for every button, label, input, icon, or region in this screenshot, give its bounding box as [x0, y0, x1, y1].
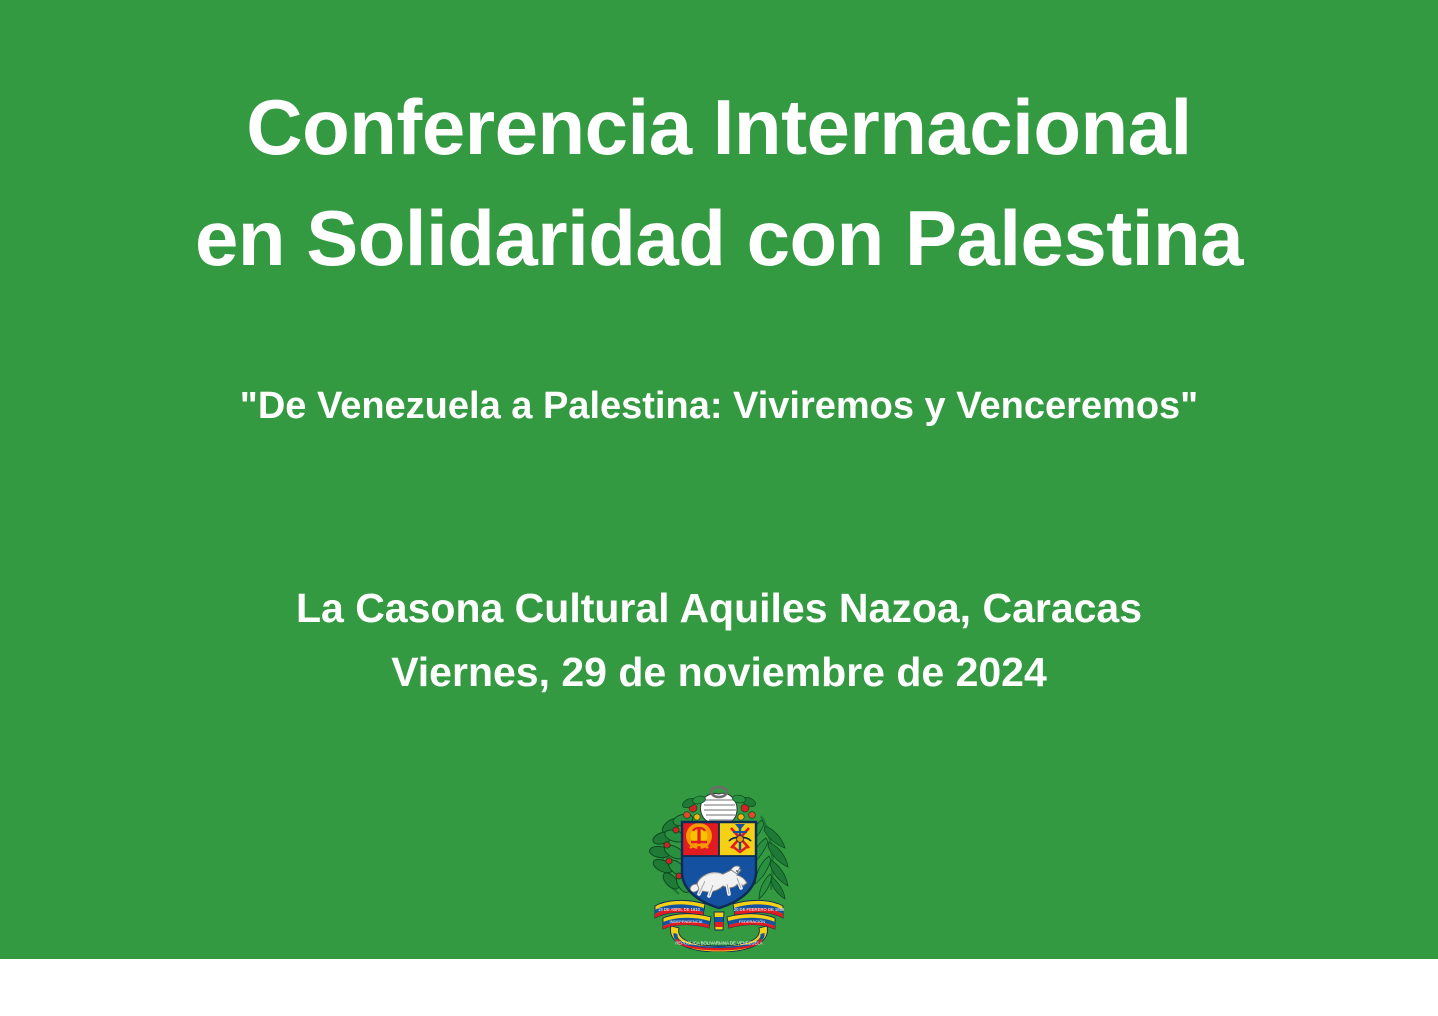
ministry-line-1: Ministerio del Poder Popular — [606, 961, 832, 979]
svg-text:20 DE FEBRERO DE 1859: 20 DE FEBRERO DE 1859 — [734, 907, 785, 912]
svg-text:FEDERACIÓN: FEDERACIÓN — [739, 919, 765, 924]
ribbon-right-lower: FEDERACIÓN — [727, 914, 775, 929]
ministry-line-3: Oficina de Gestión Comunicacional — [606, 999, 832, 1016]
event-details: La Casona Cultural Aquiles Nazoa, Caraca… — [0, 577, 1438, 704]
event-date: Viernes, 29 de noviembre de 2024 — [0, 641, 1438, 705]
headline-line-1: Conferencia Internacional — [20, 72, 1418, 183]
event-flyer: Conferencia Internacional en Solidaridad… — [0, 0, 1438, 959]
page-title: Conferencia Internacional en Solidaridad… — [0, 72, 1438, 294]
svg-text:19 DE ABRIL DE 1810: 19 DE ABRIL DE 1810 — [658, 907, 701, 912]
ministry-line-2-bold: Relaciones Ext riores — [658, 980, 816, 997]
venezuela-coat-of-arms-icon: 19 DE ABRIL DE 1810 20 DE FEBRERO DE 185… — [619, 786, 819, 952]
headline-line-2: en Solidaridad con Palestina — [20, 183, 1418, 294]
ribbon-left-lower: INDEPENDENCIA — [663, 914, 711, 929]
weapons-trophy — [729, 824, 751, 852]
institution-logo: 19 DE ABRIL DE 1810 20 DE FEBRERO DE 185… — [606, 786, 832, 1016]
ministry-line-2: para Relaciones Ext riores — [606, 980, 832, 998]
ministry-line-2-prefix: para — [622, 980, 657, 997]
svg-text:INDEPENDENCIA: INDEPENDENCIA — [670, 919, 703, 924]
event-slogan: "De Venezuela a Palestina: Viviremos y V… — [0, 382, 1438, 431]
shield — [679, 820, 761, 912]
ribbon-knot — [714, 912, 724, 930]
svg-text:REPÚBLICA BOLIVARIANA DE VENEZ: REPÚBLICA BOLIVARIANA DE VENEZUELA — [675, 941, 762, 946]
event-venue: La Casona Cultural Aquiles Nazoa, Caraca… — [0, 577, 1438, 641]
ministry-caption: Ministerio del Poder Popular para Relaci… — [606, 961, 832, 1016]
